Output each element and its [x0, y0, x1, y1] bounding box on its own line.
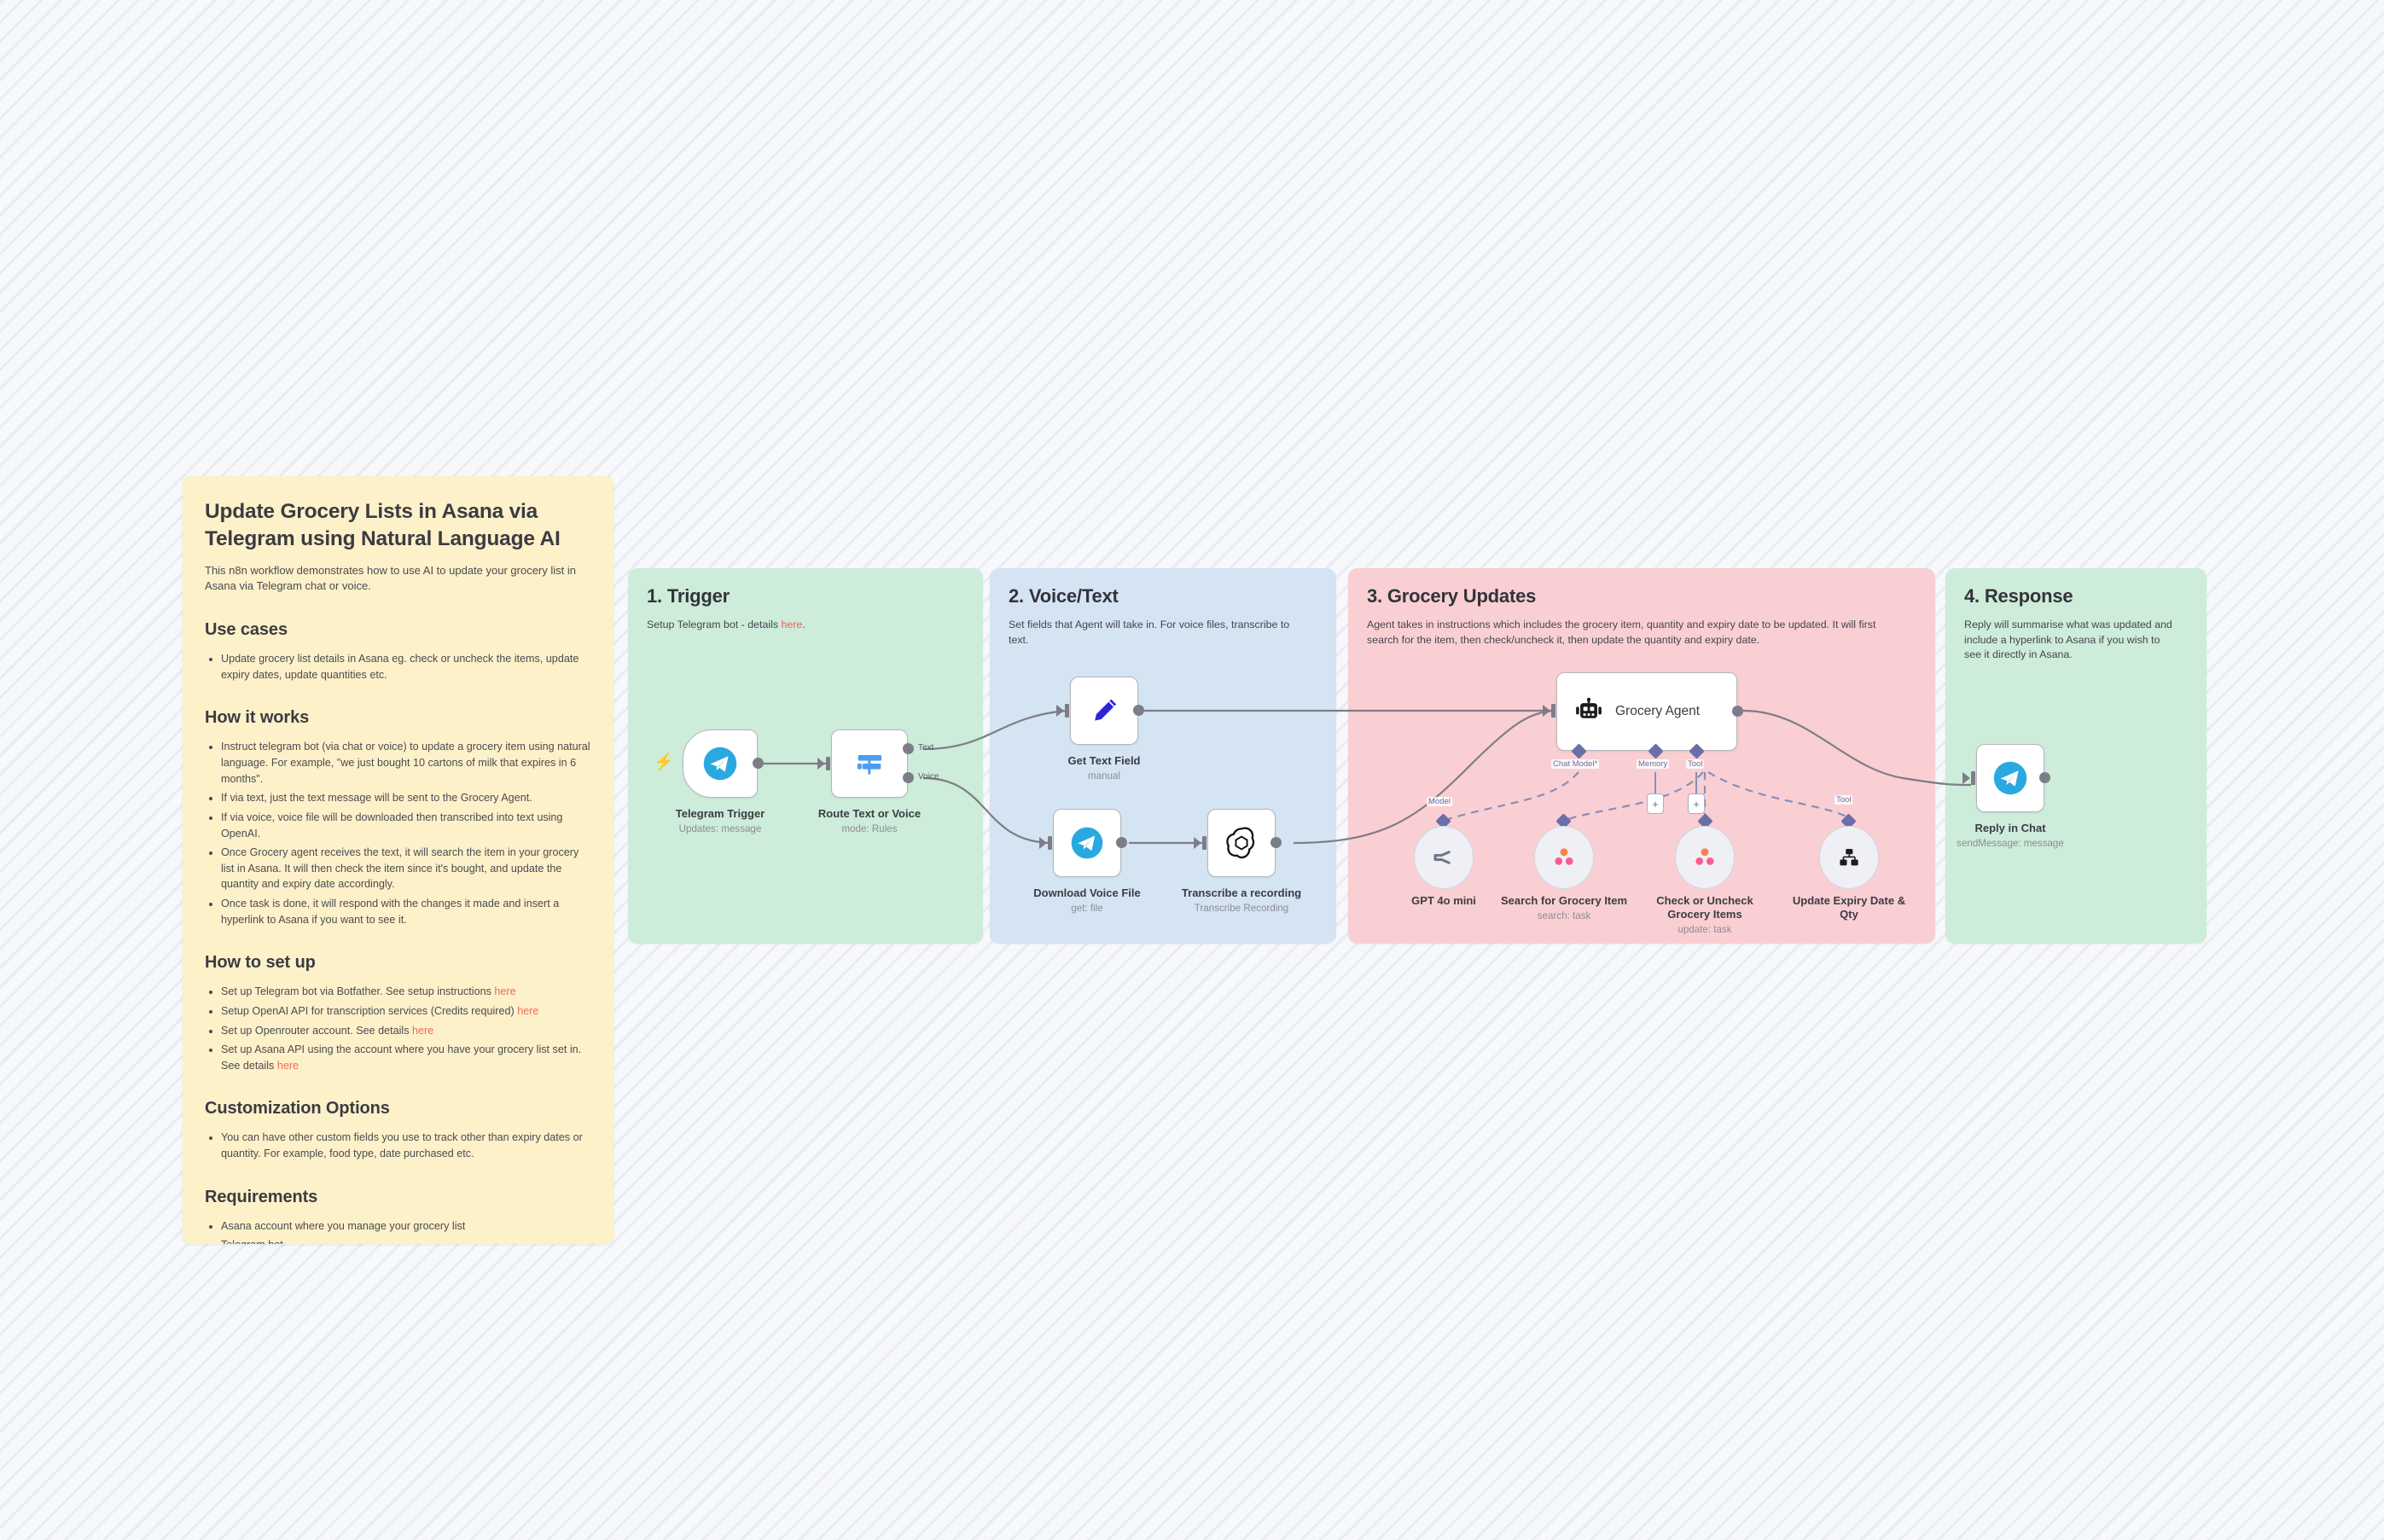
- node-get-text-field[interactable]: [1070, 677, 1138, 745]
- port-label-model: Model: [1427, 797, 1452, 806]
- panel-description: Setup Telegram bot - details here.: [647, 618, 951, 633]
- input-bar: [1551, 704, 1555, 718]
- input-bar: [1065, 704, 1069, 718]
- node-subtitle: Transcribe Recording: [1182, 903, 1301, 915]
- label-search-for-grocery-item: Search for Grocery Item search: task: [1500, 894, 1628, 922]
- sticky-note-overview[interactable]: Update Grocery Lists in Asana via Telegr…: [183, 476, 613, 1244]
- hierarchy-icon: [1836, 845, 1862, 870]
- list-item: Instruct telegram bot (via chat or voice…: [221, 739, 591, 787]
- setup-step-text: Set up Telegram bot via Botfather. See s…: [221, 985, 516, 997]
- setup-step-text: Setup OpenAI API for transcription servi…: [221, 1005, 538, 1017]
- sticky-list-customization: You can have other custom fields you use…: [205, 1130, 591, 1161]
- node-title: Search for Grocery Item: [1500, 894, 1628, 908]
- sticky-heading-requirements: Requirements: [205, 1188, 591, 1207]
- list-item: Update grocery list details in Asana eg.…: [221, 651, 591, 683]
- edit-pencil-icon: [1087, 694, 1121, 728]
- add-memory-button[interactable]: +: [1647, 793, 1664, 814]
- sticky-note-lead: This n8n workflow demonstrates how to us…: [205, 563, 591, 595]
- port-label-memory: Memory: [1637, 759, 1669, 769]
- node-subtitle: manual: [1068, 770, 1141, 782]
- list-item: Set up Asana API using the account where…: [221, 1042, 591, 1073]
- node-title: GPT 4o mini: [1411, 894, 1476, 908]
- output-dot[interactable]: [1732, 706, 1743, 717]
- node-reply-in-chat[interactable]: [1976, 744, 2044, 812]
- sticky-heading-how-it-works: How it works: [205, 708, 591, 728]
- output-dot[interactable]: [1116, 837, 1127, 848]
- output-dot[interactable]: [1270, 837, 1282, 848]
- panel-title: 4. Response: [1964, 585, 2188, 607]
- node-title: Transcribe a recording: [1182, 886, 1301, 900]
- panel-trigger[interactable]: 1. Trigger Setup Telegram bot - details …: [628, 568, 983, 944]
- list-item: Once task is done, it will respond with …: [221, 896, 591, 927]
- output-dot[interactable]: [1133, 705, 1144, 716]
- setup-link-here[interactable]: here: [494, 985, 515, 997]
- input-arrow: [1543, 705, 1550, 717]
- sticky-heading-customization: Customization Options: [205, 1099, 591, 1119]
- sticky-list-how-to-set-up: Set up Telegram bot via Botfather. See s…: [205, 984, 591, 1073]
- node-subtitle: Updates: message: [676, 823, 765, 835]
- panel-description: Set fields that Agent will take in. For …: [1009, 618, 1305, 648]
- list-item: Telegram bot: [221, 1237, 591, 1244]
- label-check-or-uncheck-grocery-items: Check or Uncheck Grocery Items update: t…: [1641, 894, 1769, 936]
- agent-title: Grocery Agent: [1615, 704, 1700, 719]
- list-item: Setup OpenAI API for transcription servi…: [221, 1003, 591, 1020]
- node-search-for-grocery-item[interactable]: [1534, 826, 1594, 889]
- sticky-list-how-it-works: Instruct telegram bot (via chat or voice…: [205, 739, 591, 927]
- list-item: Asana account where you manage your groc…: [221, 1218, 591, 1235]
- setup-link-here[interactable]: here: [277, 1060, 299, 1072]
- sticky-heading-use-cases: Use cases: [205, 620, 591, 640]
- input-bar: [1971, 771, 1975, 785]
- sticky-heading-how-to-set-up: How to set up: [205, 953, 591, 973]
- panel-title: 3. Grocery Updates: [1367, 585, 1916, 607]
- node-title: Check or Uncheck Grocery Items: [1641, 894, 1769, 921]
- openai-icon: [1224, 825, 1259, 861]
- label-download-voice-file: Download Voice File get: file: [1033, 886, 1140, 915]
- label-gpt-4o-mini: GPT 4o mini: [1411, 894, 1476, 908]
- panel-link-here[interactable]: here: [782, 619, 803, 631]
- panel-description: Agent takes in instructions which includ…: [1367, 618, 1894, 648]
- telegram-icon: [1070, 826, 1104, 860]
- sticky-list-requirements: Asana account where you manage your groc…: [205, 1218, 591, 1244]
- node-title: Get Text Field: [1068, 754, 1141, 768]
- panel-description: Reply will summarise what was updated an…: [1964, 618, 2179, 663]
- panel-title: 1. Trigger: [647, 585, 964, 607]
- panel-desc-tail: .: [802, 619, 805, 631]
- panel-title: 2. Voice/Text: [1009, 585, 1317, 607]
- telegram-icon: [1992, 760, 2028, 796]
- input-bar: [826, 757, 830, 770]
- input-bar: [1202, 836, 1207, 850]
- input-arrow: [1056, 705, 1064, 717]
- port-label-tool: Tool: [1686, 759, 1704, 769]
- asana-icon: [1551, 845, 1577, 870]
- node-transcribe-a-recording[interactable]: [1207, 809, 1276, 877]
- label-transcribe-a-recording: Transcribe a recording Transcribe Record…: [1182, 886, 1301, 915]
- node-gpt-4o-mini[interactable]: [1414, 826, 1474, 889]
- node-subtitle: search: task: [1500, 910, 1628, 922]
- input-arrow: [1962, 772, 1970, 784]
- openrouter-icon: [1431, 845, 1457, 870]
- setup-step-text: Set up Asana API using the account where…: [221, 1043, 581, 1072]
- setup-link-here[interactable]: here: [412, 1025, 433, 1037]
- setup-link-here[interactable]: here: [517, 1005, 538, 1017]
- list-item: If via voice, voice file will be downloa…: [221, 810, 591, 841]
- node-title: Reply in Chat: [1957, 822, 2064, 835]
- trigger-bolt-icon: ⚡: [654, 754, 674, 770]
- list-item: If via text, just the text message will …: [221, 790, 591, 806]
- add-tool-button[interactable]: +: [1688, 793, 1705, 814]
- setup-step-text: Set up Openrouter account. See details h…: [221, 1025, 433, 1037]
- output-dot-text[interactable]: [903, 743, 914, 754]
- label-update-expiry-date-qty: Update Expiry Date & Qty: [1785, 894, 1913, 921]
- node-update-expiry-date-qty[interactable]: [1819, 826, 1879, 889]
- label-route-text-or-voice: Route Text or Voice mode: Rules: [818, 807, 921, 835]
- label-telegram-trigger: Telegram Trigger Updates: message: [676, 807, 765, 835]
- node-title: Route Text or Voice: [818, 807, 921, 821]
- input-arrow: [1194, 837, 1201, 849]
- label-get-text-field: Get Text Field manual: [1068, 754, 1141, 782]
- list-item: Set up Telegram bot via Botfather. See s…: [221, 984, 591, 1000]
- list-item: Set up Openrouter account. See details h…: [221, 1023, 591, 1039]
- input-bar: [1048, 836, 1052, 850]
- sticky-list-use-cases: Update grocery list details in Asana eg.…: [205, 651, 591, 683]
- node-title: Telegram Trigger: [676, 807, 765, 821]
- asana-icon: [1692, 845, 1718, 870]
- node-download-voice-file[interactable]: [1053, 809, 1121, 877]
- node-route-text-or-voice[interactable]: [831, 729, 908, 798]
- robot-icon: [1574, 697, 1603, 726]
- node-check-or-uncheck-grocery-items[interactable]: [1675, 826, 1735, 889]
- node-grocery-agent[interactable]: Grocery Agent: [1556, 672, 1737, 751]
- switch-icon: [852, 747, 887, 781]
- panel-desc-text: Setup Telegram bot - details: [647, 619, 782, 631]
- port-label-chat-model: Chat Model*: [1551, 759, 1599, 769]
- input-arrow: [817, 758, 825, 770]
- port-label-tool-update: Tool: [1835, 795, 1852, 805]
- list-item: You can have other custom fields you use…: [221, 1130, 591, 1161]
- input-arrow: [1039, 837, 1047, 849]
- node-subtitle: sendMessage: message: [1957, 838, 2064, 850]
- edge-label-voice: Voice: [918, 772, 939, 782]
- output-dot-voice[interactable]: [903, 772, 914, 783]
- telegram-icon: [702, 746, 738, 782]
- node-title: Update Expiry Date & Qty: [1785, 894, 1913, 921]
- node-subtitle: mode: Rules: [818, 823, 921, 835]
- node-telegram-trigger[interactable]: [683, 729, 758, 798]
- edge-label-text: Text: [918, 743, 933, 753]
- label-reply-in-chat: Reply in Chat sendMessage: message: [1957, 822, 2064, 850]
- sticky-note-title: Update Grocery Lists in Asana via Telegr…: [205, 498, 591, 553]
- output-dot[interactable]: [2039, 772, 2050, 783]
- node-title: Download Voice File: [1033, 886, 1140, 900]
- list-item: Once Grocery agent receives the text, it…: [221, 845, 591, 892]
- output-dot[interactable]: [753, 758, 764, 769]
- node-subtitle: get: file: [1033, 903, 1140, 915]
- node-subtitle: update: task: [1641, 924, 1769, 936]
